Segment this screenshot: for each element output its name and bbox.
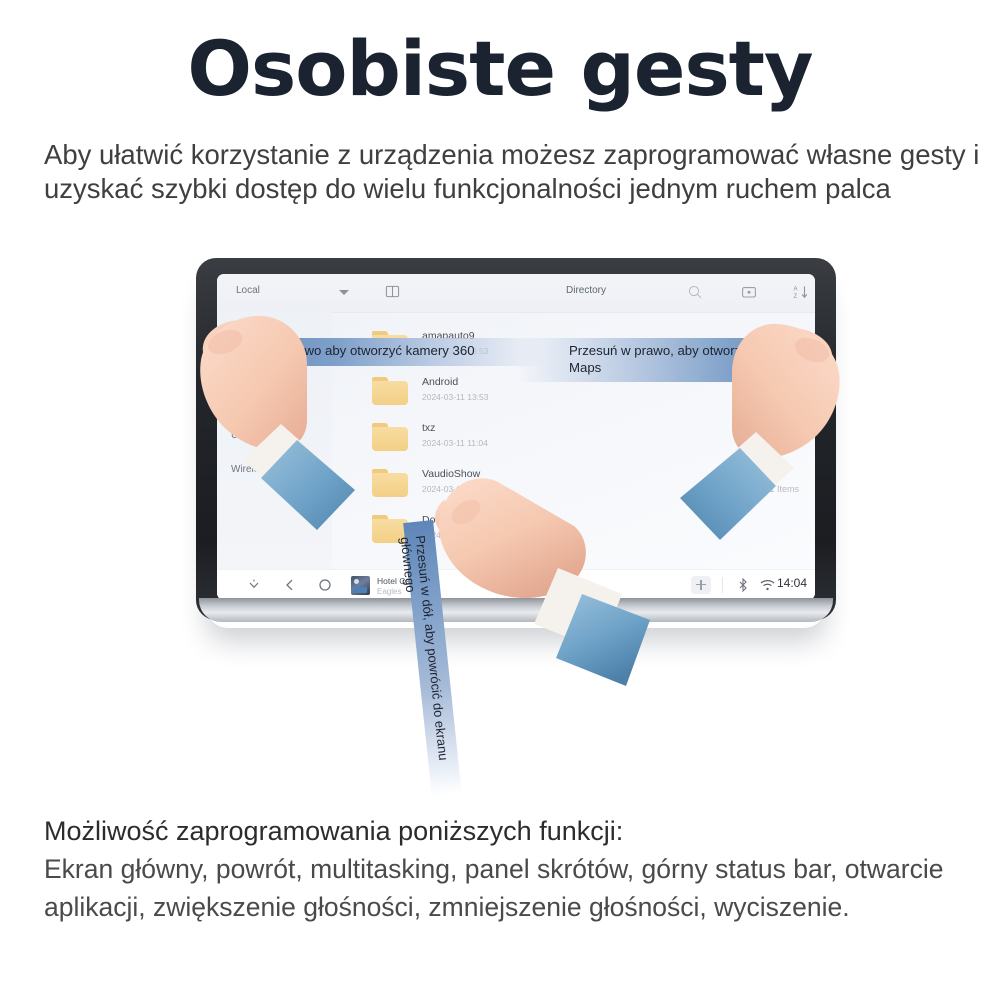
home-icon[interactable] <box>318 578 332 592</box>
divider <box>722 577 723 593</box>
page-subtitle: Aby ułatwić korzystanie z urządzenia moż… <box>44 138 984 206</box>
hand-down-swipe <box>432 478 682 698</box>
chevron-down-icon[interactable] <box>339 290 349 295</box>
list-item[interactable]: txz 2024-03-11 11:04 <box>372 420 642 465</box>
folder-icon <box>372 377 408 405</box>
svg-text:A: A <box>794 287 798 293</box>
poster-root: Osobiste gesty Aby ułatwić korzystanie z… <box>0 0 1000 1000</box>
wifi-icon[interactable] <box>760 579 775 591</box>
svg-text:Z: Z <box>794 294 798 300</box>
hand-left-swipe <box>185 312 365 532</box>
footer-copy: Możliwość zaprogramowania poniższych fun… <box>44 812 994 926</box>
split-view-icon[interactable] <box>385 284 400 299</box>
storage-selector-label[interactable]: Local <box>236 285 260 296</box>
clock: 14:04 <box>777 576 807 590</box>
directory-label: Directory <box>566 285 606 296</box>
back-icon[interactable] <box>283 578 297 592</box>
file-date: 2024-03-11 11:04 <box>422 438 488 448</box>
sort-icon[interactable]: A Z <box>793 284 809 300</box>
file-name: Android <box>422 376 458 388</box>
folder-icon <box>372 469 408 497</box>
new-folder-icon[interactable] <box>741 284 757 300</box>
file-name: txz <box>422 422 435 434</box>
album-art <box>351 576 370 595</box>
file-date: 2024-03-11 13:53 <box>422 392 488 402</box>
bluetooth-icon[interactable] <box>737 578 749 592</box>
footer-title: Możliwość zaprogramowania poniższych fun… <box>44 812 994 850</box>
folder-icon <box>372 423 408 451</box>
footer-body: Ekran główny, powrót, multitasking, pane… <box>44 850 994 926</box>
file-manager-toolbar: Local Directory <box>217 274 815 313</box>
chevron-down-icon[interactable] <box>247 578 261 592</box>
page-title: Osobiste gesty <box>0 28 1000 110</box>
track-artist: Eagles <box>377 587 401 596</box>
search-icon[interactable] <box>687 284 703 300</box>
plus-icon[interactable] <box>691 576 711 594</box>
